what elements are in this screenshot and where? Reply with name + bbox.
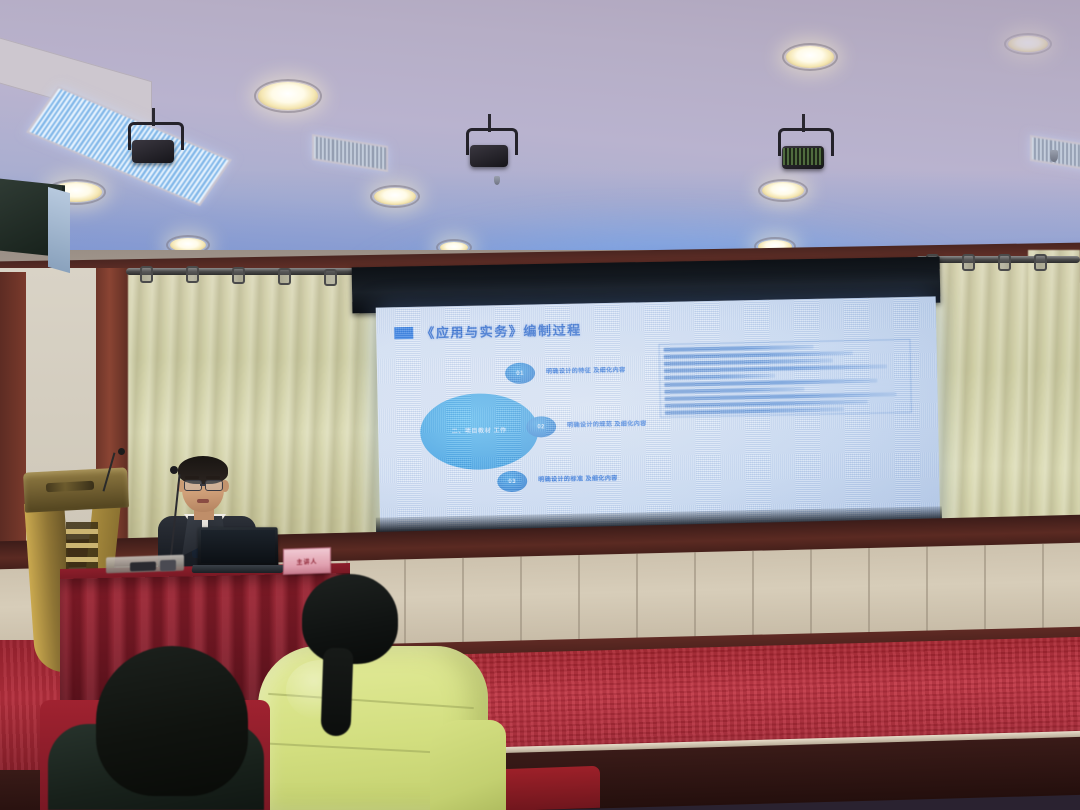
curtain-ring-icon <box>140 266 153 283</box>
slide-bullet-icon <box>394 326 413 338</box>
slide-step-label: 明确设计的规范 及细化内容 <box>567 420 647 431</box>
curtain-ring-icon <box>278 268 291 285</box>
curtain-ring-icon <box>1034 254 1047 271</box>
stage-spotlight-icon <box>466 128 512 168</box>
curtain-rod-left <box>126 268 388 275</box>
ceiling-downlight-icon <box>762 182 804 199</box>
slide-text-line <box>664 345 814 352</box>
slide-text-line <box>664 374 775 380</box>
presenter-eyebrow-left <box>185 476 199 479</box>
laptop-screen <box>201 530 275 563</box>
glasses-bridge-icon <box>200 484 206 486</box>
slide-text-line <box>664 387 804 394</box>
microphone-head-icon <box>170 466 178 474</box>
ceiling-downlight-icon <box>258 82 318 110</box>
curtain-ring-icon <box>324 269 337 286</box>
desk-device <box>130 562 156 572</box>
slide-step-number: 01 <box>505 362 535 384</box>
glasses-icon <box>205 480 223 491</box>
desk-object <box>160 560 176 572</box>
slide-title-row: 《应用与实务》编制过程 <box>394 320 582 343</box>
slide-text-line <box>664 379 877 387</box>
slide-text-line <box>665 414 859 418</box>
slide-title: 《应用与实务》编制过程 <box>421 320 582 342</box>
nameplate-text: 主讲人 <box>296 556 317 566</box>
audience-member-left-head <box>96 646 248 796</box>
slide-step-label: 明确设计的标准 及细化内容 <box>538 474 618 485</box>
stage-spotlight-icon <box>778 128 828 170</box>
slide-step-01: 01 明确设计的特征 及细化内容 <box>505 361 626 384</box>
slide-step-02: 02 明确设计的规范 及细化内容 <box>526 414 647 437</box>
presenter-eyebrow-right <box>206 476 220 479</box>
slide-main-ellipse-label: 二、项目教材 工作 <box>452 427 507 437</box>
slide-step-03: 03 明确设计的标准 及细化内容 <box>497 469 618 492</box>
laptop-base <box>191 565 285 573</box>
slide-step-number: 02 <box>526 416 556 438</box>
slide-text-line <box>665 407 844 415</box>
curtain-ring-icon <box>232 267 245 284</box>
audience-ponytail <box>320 648 353 737</box>
nameplate: 主讲人 <box>283 547 331 575</box>
audience-member-center-arm <box>430 720 506 810</box>
curtain-ring-icon <box>998 254 1011 271</box>
stage-spotlight-icon <box>128 122 178 164</box>
sprinkler-icon <box>1050 150 1058 162</box>
slide-text-line <box>664 364 887 372</box>
conference-hall-photo: 《应用与实务》编制过程 二、项目教材 工作 01 明确设计的特征 及细化内容 0… <box>0 0 1080 810</box>
projection-screen: 《应用与实务》编制过程 二、项目教材 工作 01 明确设计的特征 及细化内容 0… <box>376 296 941 539</box>
slide-step-number: 03 <box>497 471 527 493</box>
podium-microphone-head-icon <box>118 448 125 455</box>
slide-main-ellipse: 二、项目教材 工作 <box>419 392 539 470</box>
ceiling-downlight-icon <box>786 46 834 68</box>
slide-text-block <box>659 339 912 418</box>
sprinkler-icon <box>494 176 500 185</box>
slide-text-line <box>664 358 833 365</box>
curtain-ring-icon <box>186 266 199 283</box>
curtain-ring-icon <box>962 254 975 271</box>
ceiling-downlight-icon <box>1008 36 1048 52</box>
presenter-mouth <box>197 499 209 503</box>
wall-speaker-side <box>48 187 70 273</box>
laptop[interactable] <box>192 527 282 575</box>
slide-step-label: 明确设计的特征 及细化内容 <box>546 366 626 377</box>
ceiling-downlight-icon <box>374 188 416 205</box>
glasses-icon <box>184 480 202 491</box>
